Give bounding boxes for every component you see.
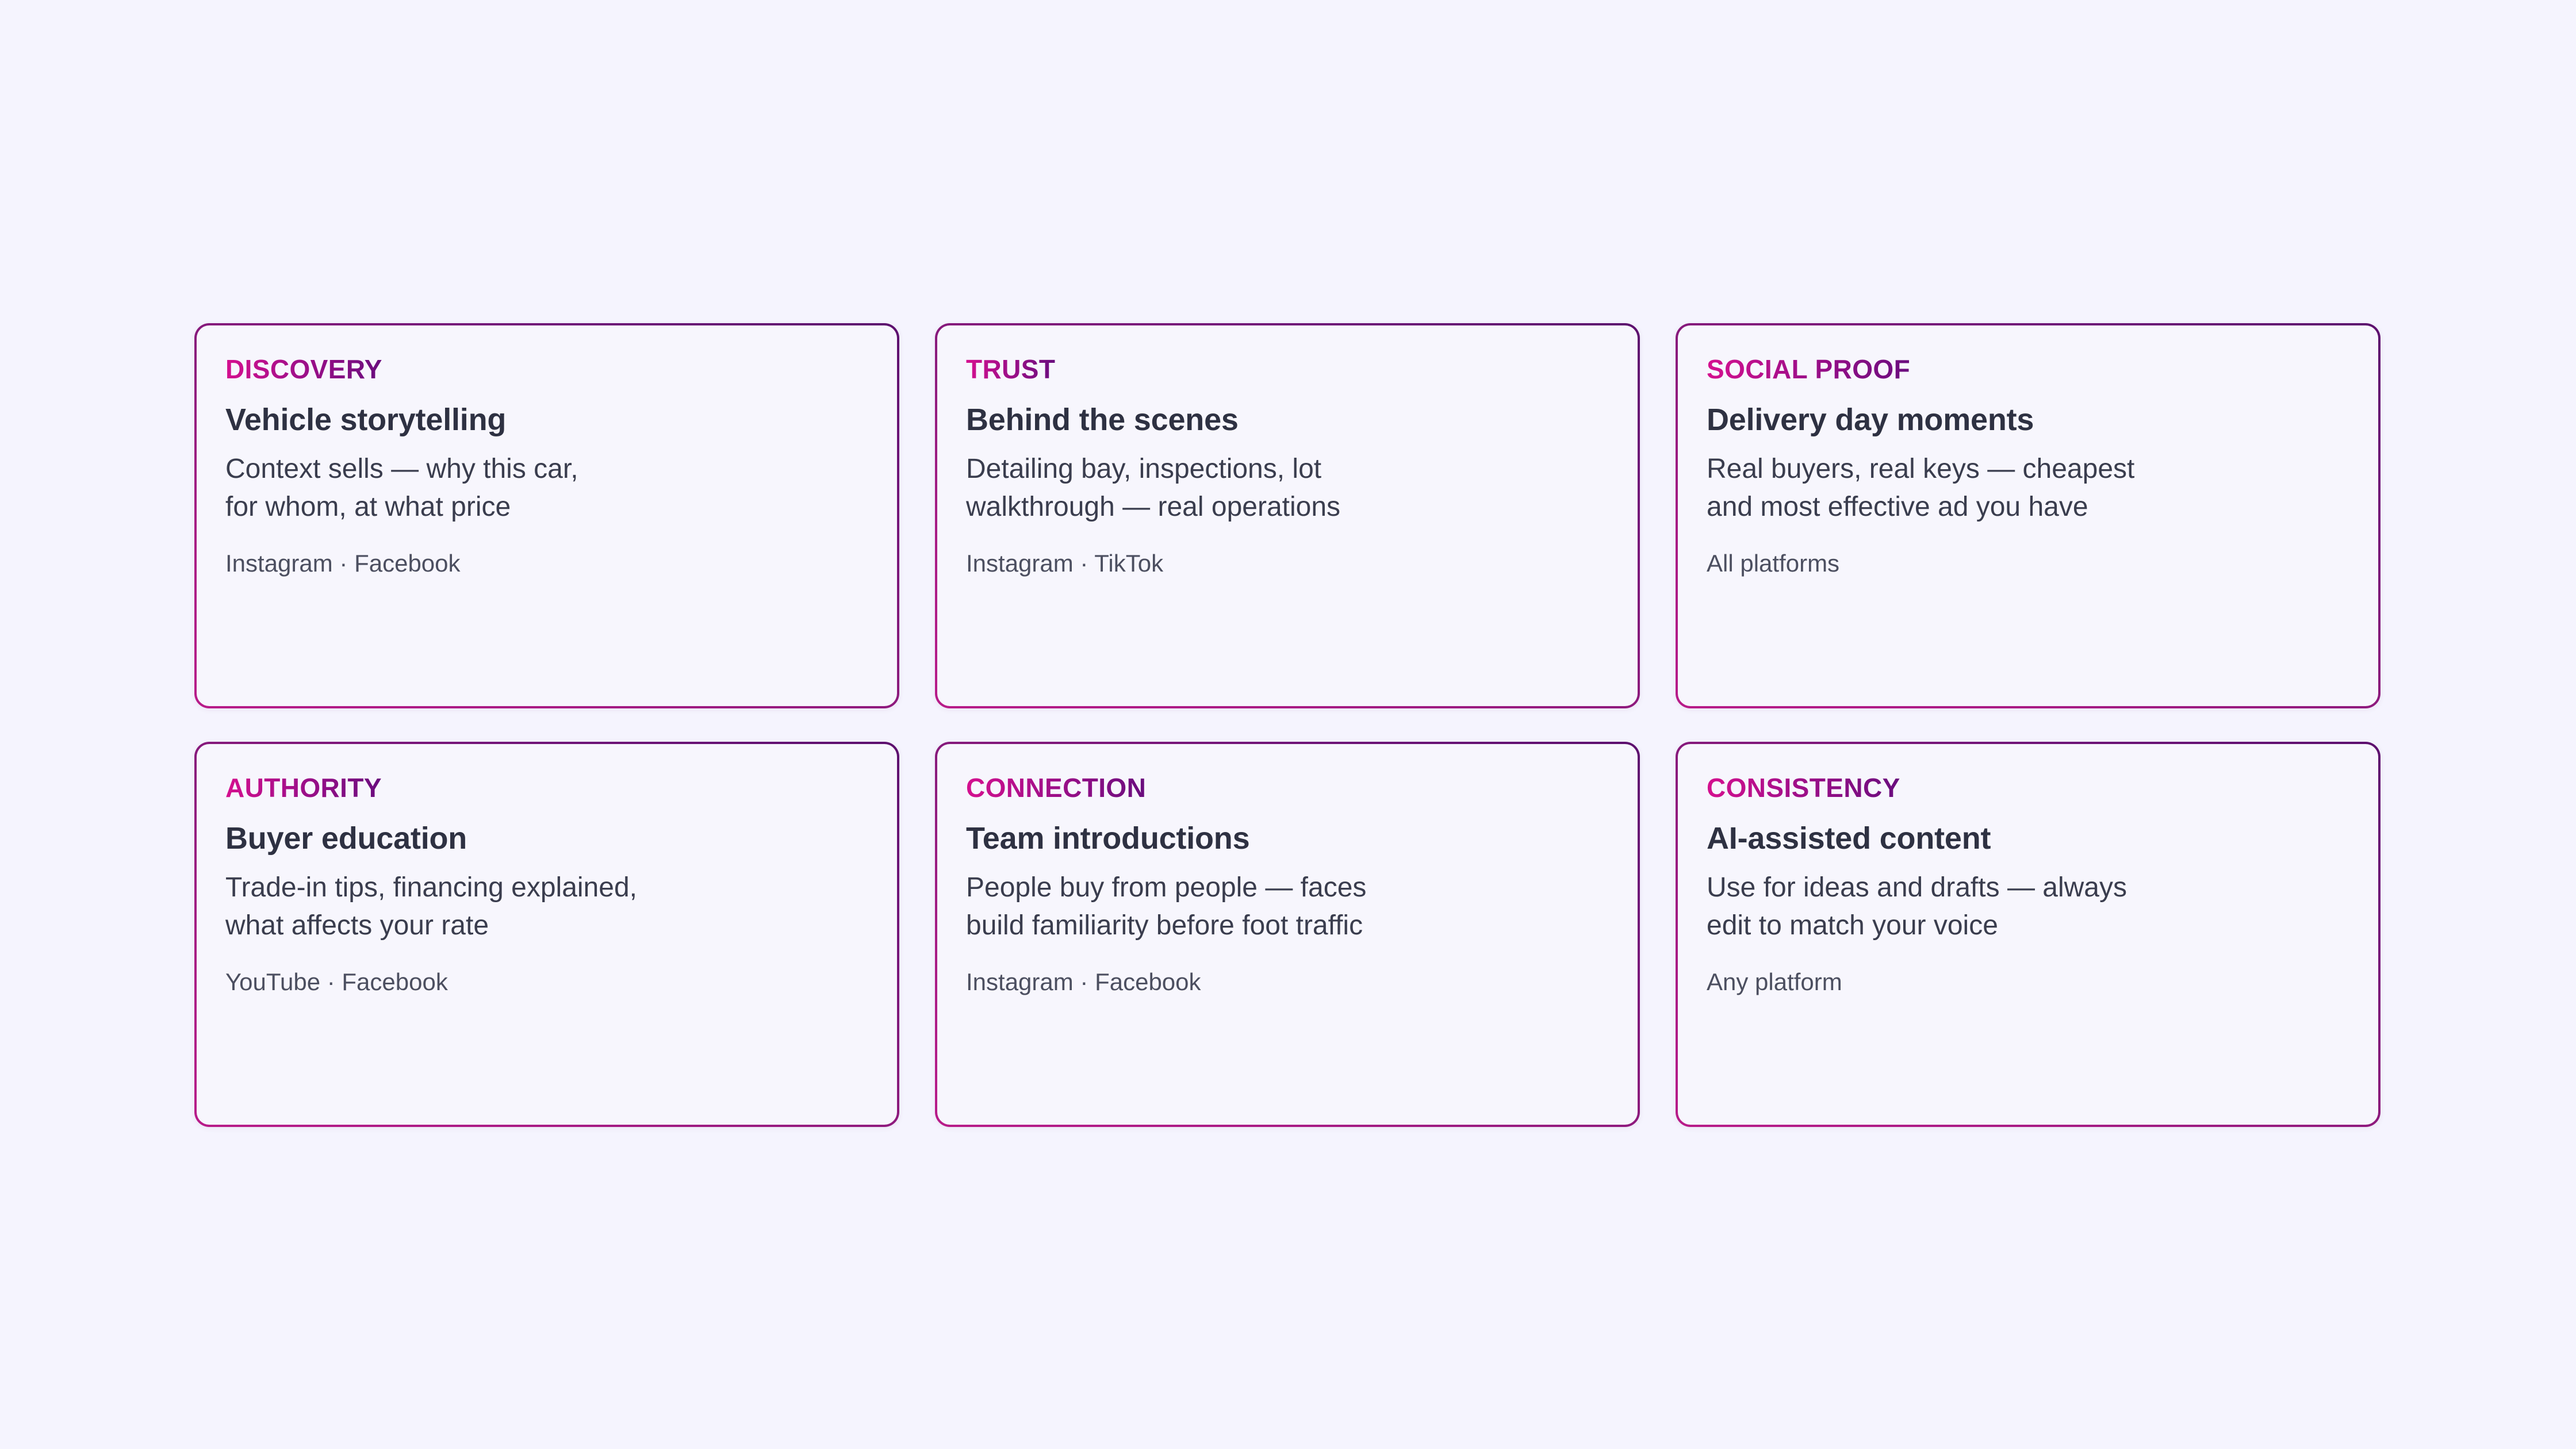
card-eyebrow-label: CONNECTION — [966, 774, 1146, 802]
card-description-line-2: build familiarity before foot traffic — [966, 907, 1616, 945]
card-authority[interactable]: AUTHORITY Buyer education Trade-in tips,… — [194, 742, 899, 1127]
card-platforms-meta: Instagram · Facebook — [966, 968, 1638, 996]
card-inner: CONSISTENCY AI-assisted content Use for … — [1678, 744, 2378, 1125]
content-pillars-card-grid: DISCOVERY Vehicle storytelling Context s… — [194, 323, 2380, 1127]
card-description-line-2: what affects your rate — [225, 907, 875, 945]
card-description: Context sells — why this car, for whom, … — [225, 450, 875, 526]
card-social-proof[interactable]: SOCIAL PROOF Delivery day moments Real b… — [1676, 323, 2380, 708]
card-description-line-1: Use for ideas and drafts — always — [1707, 869, 2356, 907]
card-platforms-meta: Instagram · Facebook — [225, 549, 897, 578]
page-canvas: DISCOVERY Vehicle storytelling Context s… — [0, 0, 2576, 1449]
card-inner: DISCOVERY Vehicle storytelling Context s… — [197, 325, 897, 706]
card-eyebrow-label: AUTHORITY — [225, 774, 382, 802]
card-description: Detailing bay, inspections, lot walkthro… — [966, 450, 1616, 526]
card-description: Use for ideas and drafts — always edit t… — [1707, 869, 2356, 945]
card-title: Buyer education — [225, 821, 897, 856]
card-trust[interactable]: TRUST Behind the scenes Detailing bay, i… — [935, 323, 1640, 708]
card-platforms-meta: YouTube · Facebook — [225, 968, 897, 996]
card-description: People buy from people — faces build fam… — [966, 869, 1616, 945]
card-inner: SOCIAL PROOF Delivery day moments Real b… — [1678, 325, 2378, 706]
card-description-line-1: Detailing bay, inspections, lot — [966, 450, 1616, 488]
card-eyebrow-label: DISCOVERY — [225, 355, 382, 383]
card-title: Team introductions — [966, 821, 1638, 856]
card-eyebrow-label: CONSISTENCY — [1707, 774, 1900, 802]
card-description-line-1: People buy from people — faces — [966, 869, 1616, 907]
card-description: Real buyers, real keys — cheapest and mo… — [1707, 450, 2356, 526]
card-discovery[interactable]: DISCOVERY Vehicle storytelling Context s… — [194, 323, 899, 708]
card-consistency[interactable]: CONSISTENCY AI-assisted content Use for … — [1676, 742, 2380, 1127]
card-platforms-meta: All platforms — [1707, 549, 2378, 578]
card-description-line-1: Context sells — why this car, — [225, 450, 875, 488]
card-description-line-2: walkthrough — real operations — [966, 488, 1616, 526]
card-description-line-2: for whom, at what price — [225, 488, 875, 526]
card-connection[interactable]: CONNECTION Team introductions People buy… — [935, 742, 1640, 1127]
card-description-line-2: edit to match your voice — [1707, 907, 2356, 945]
card-title: Delivery day moments — [1707, 402, 2378, 437]
card-title: Behind the scenes — [966, 402, 1638, 437]
card-platforms-meta: Any platform — [1707, 968, 2378, 996]
card-description-line-1: Trade-in tips, financing explained, — [225, 869, 875, 907]
card-inner: TRUST Behind the scenes Detailing bay, i… — [937, 325, 1638, 706]
card-inner: AUTHORITY Buyer education Trade-in tips,… — [197, 744, 897, 1125]
card-title: AI-assisted content — [1707, 821, 2378, 856]
card-inner: CONNECTION Team introductions People buy… — [937, 744, 1638, 1125]
card-description: Trade-in tips, financing explained, what… — [225, 869, 875, 945]
card-description-line-1: Real buyers, real keys — cheapest — [1707, 450, 2356, 488]
card-title: Vehicle storytelling — [225, 402, 897, 437]
card-platforms-meta: Instagram · TikTok — [966, 549, 1638, 578]
card-eyebrow-label: SOCIAL PROOF — [1707, 355, 1910, 383]
card-eyebrow-label: TRUST — [966, 355, 1055, 383]
card-description-line-2: and most effective ad you have — [1707, 488, 2356, 526]
